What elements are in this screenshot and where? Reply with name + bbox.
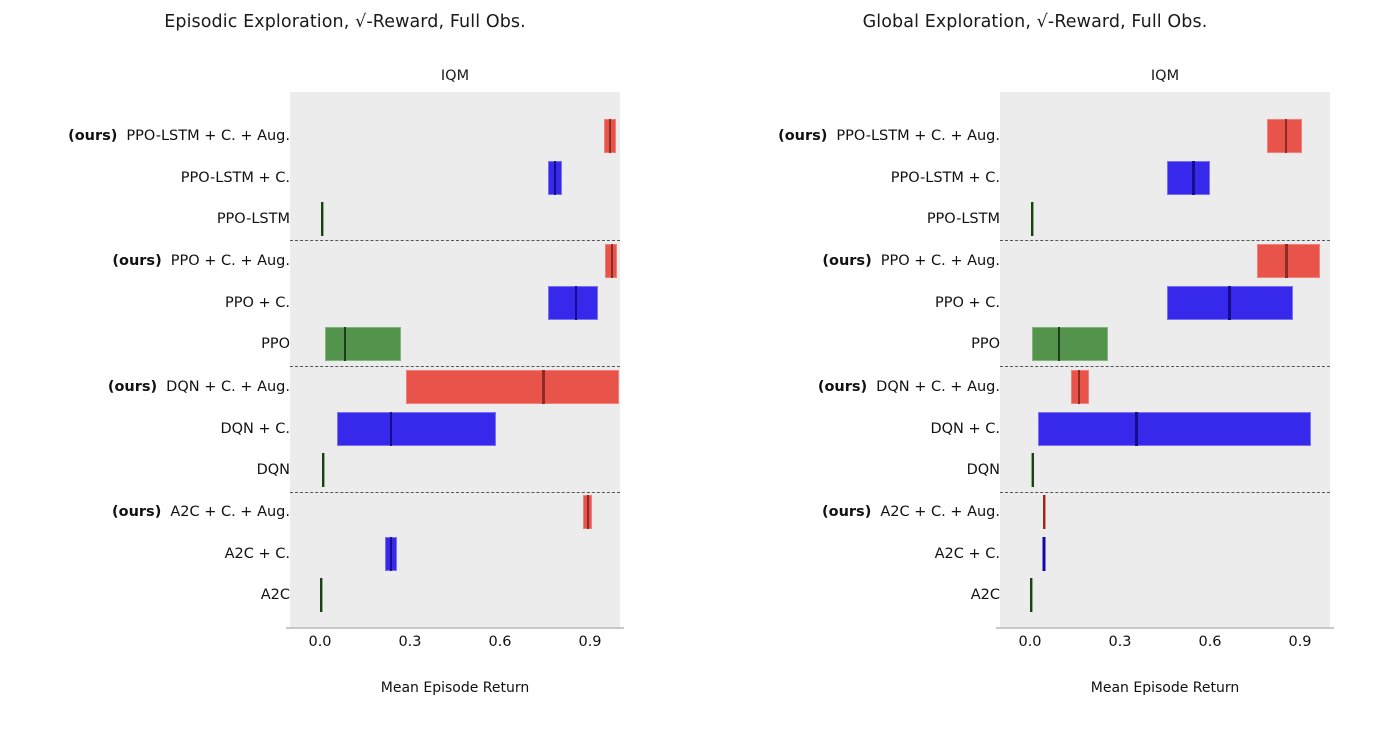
y-axis-label-a2c: A2C bbox=[971, 585, 1000, 605]
ours-tag: (ours) bbox=[112, 253, 161, 269]
ours-tag: (ours) bbox=[778, 128, 827, 144]
y-axis-label-ppo-c: PPO + C. bbox=[935, 293, 1000, 313]
group-separator-3 bbox=[1000, 492, 1330, 493]
x-tick-label: 0.0 bbox=[1000, 634, 1060, 650]
panel-global-exploration: Global Exploration, √-Reward, Full Obs. … bbox=[690, 0, 1380, 731]
confidence-interval-bar bbox=[1032, 327, 1109, 361]
algorithm-name: DQN bbox=[257, 462, 290, 478]
y-axis-label-a2c-c: A2C + C. bbox=[935, 544, 1000, 564]
iqm-point-estimate bbox=[1031, 202, 1033, 236]
y-axis-label-ppo-lstm: PPO-LSTM bbox=[217, 209, 290, 229]
ours-tag: (ours) bbox=[68, 128, 117, 144]
iqm-point-estimate bbox=[1032, 453, 1034, 487]
x-tick-label: 0.9 bbox=[1270, 634, 1330, 650]
iqm-point-estimate bbox=[390, 537, 392, 571]
algorithm-name: A2C + C. bbox=[225, 546, 290, 562]
x-axis-line bbox=[286, 627, 624, 629]
x-tick-label: 0.9 bbox=[560, 634, 620, 650]
group-separator-1 bbox=[290, 240, 620, 241]
confidence-interval-bar bbox=[548, 286, 598, 320]
iqm-point-estimate bbox=[1030, 578, 1032, 612]
algorithm-name: A2C + C. + Aug. bbox=[170, 504, 290, 520]
iqm-point-estimate bbox=[322, 453, 324, 487]
x-axis-title: Mean Episode Return bbox=[290, 680, 620, 696]
iqm-point-estimate bbox=[1285, 119, 1287, 153]
algorithm-name: DQN + C. bbox=[930, 421, 1000, 437]
algorithm-name: PPO-LSTM + C. + Aug. bbox=[836, 128, 1000, 144]
algorithm-name: A2C bbox=[971, 587, 1000, 603]
group-separator-3 bbox=[290, 492, 620, 493]
ours-tag: (ours) bbox=[818, 379, 867, 395]
iqm-point-estimate bbox=[554, 161, 556, 195]
subplot-title: IQM bbox=[1000, 68, 1330, 84]
ours-tag: (ours) bbox=[822, 253, 871, 269]
algorithm-name: DQN bbox=[967, 462, 1000, 478]
confidence-interval-bar bbox=[1257, 244, 1320, 278]
algorithm-name: DQN + C. + Aug. bbox=[166, 379, 290, 395]
y-axis-label-ppo: PPO bbox=[261, 334, 290, 354]
algorithm-name: PPO + C. + Aug. bbox=[171, 253, 290, 269]
group-separator-2 bbox=[290, 366, 620, 367]
iqm-point-estimate bbox=[1192, 161, 1194, 195]
x-tick-label: 0.3 bbox=[1090, 634, 1150, 650]
algorithm-name: A2C bbox=[261, 587, 290, 603]
y-axis-label-dqn-c: DQN + C. bbox=[220, 419, 290, 439]
iqm-point-estimate bbox=[1058, 327, 1060, 361]
x-tick-label: 0.3 bbox=[380, 634, 440, 650]
iqm-point-estimate bbox=[1285, 244, 1287, 278]
iqm-point-estimate bbox=[320, 578, 322, 612]
iqm-point-estimate bbox=[609, 119, 611, 153]
confidence-interval-bar bbox=[337, 412, 497, 446]
algorithm-name: PPO-LSTM + C. + Aug. bbox=[126, 128, 290, 144]
y-axis-label-ppo-lstm-c: PPO-LSTM + C. bbox=[181, 168, 290, 188]
y-axis-label-a2c-c: A2C + C. bbox=[225, 544, 290, 564]
algorithm-name: PPO bbox=[261, 336, 290, 352]
iqm-point-estimate bbox=[1135, 412, 1137, 446]
algorithm-name: PPO bbox=[971, 336, 1000, 352]
algorithm-name: DQN + C. + Aug. bbox=[876, 379, 1000, 395]
y-axis-label-ppo: PPO bbox=[971, 334, 1000, 354]
y-axis-label-dqn: DQN bbox=[257, 460, 290, 480]
x-axis-title: Mean Episode Return bbox=[1000, 680, 1330, 696]
x-tick-label: 0.0 bbox=[290, 634, 350, 650]
y-axis-label-dqn-c-aug: (ours)DQN + C. + Aug. bbox=[108, 377, 290, 397]
iqm-point-estimate bbox=[390, 412, 392, 446]
algorithm-name: PPO + C. + Aug. bbox=[881, 253, 1000, 269]
algorithm-name: PPO + C. bbox=[935, 295, 1000, 311]
iqm-point-estimate bbox=[321, 202, 323, 236]
iqm-point-estimate bbox=[344, 327, 346, 361]
x-tick-label: 0.6 bbox=[470, 634, 530, 650]
group-separator-1 bbox=[1000, 240, 1330, 241]
y-axis-label-dqn-c: DQN + C. bbox=[930, 419, 1000, 439]
confidence-interval-bar bbox=[406, 370, 619, 404]
x-axis-line bbox=[996, 627, 1334, 629]
panel-episodic-exploration: Episodic Exploration, √-Reward, Full Obs… bbox=[0, 0, 690, 731]
y-axis-label-ppo-c: PPO + C. bbox=[225, 293, 290, 313]
subplot-title: IQM bbox=[290, 68, 620, 84]
x-tick-label: 0.6 bbox=[1180, 634, 1240, 650]
y-axis-label-ppo-c-aug: (ours)PPO + C. + Aug. bbox=[822, 251, 1000, 271]
y-axis-label-ppo-lstm-c-aug: (ours)PPO-LSTM + C. + Aug. bbox=[68, 126, 290, 146]
iqm-point-estimate bbox=[611, 244, 613, 278]
algorithm-name: PPO-LSTM + C. bbox=[891, 170, 1000, 186]
panel-title: Global Exploration, √-Reward, Full Obs. bbox=[690, 12, 1380, 32]
confidence-interval-bar bbox=[1038, 412, 1311, 446]
confidence-interval-bar bbox=[325, 327, 401, 361]
ours-tag: (ours) bbox=[112, 504, 161, 520]
algorithm-name: DQN + C. bbox=[220, 421, 290, 437]
group-separator-2 bbox=[1000, 366, 1330, 367]
y-axis-label-ppo-c-aug: (ours)PPO + C. + Aug. bbox=[112, 251, 290, 271]
panel-title: Episodic Exploration, √-Reward, Full Obs… bbox=[0, 12, 690, 32]
y-axis-label-dqn-c-aug: (ours)DQN + C. + Aug. bbox=[818, 377, 1000, 397]
algorithm-name: A2C + C. bbox=[935, 546, 1000, 562]
ours-tag: (ours) bbox=[108, 379, 157, 395]
iqm-point-estimate bbox=[1228, 286, 1230, 320]
y-axis-label-ppo-lstm-c-aug: (ours)PPO-LSTM + C. + Aug. bbox=[778, 126, 1000, 146]
y-axis-label-a2c: A2C bbox=[261, 585, 290, 605]
iqm-point-estimate bbox=[1078, 370, 1080, 404]
algorithm-name: PPO-LSTM bbox=[217, 211, 290, 227]
y-axis-label-ppo-lstm-c: PPO-LSTM + C. bbox=[891, 168, 1000, 188]
iqm-point-estimate bbox=[587, 495, 589, 529]
y-axis-label-a2c-c-aug: (ours)A2C + C. + Aug. bbox=[822, 502, 1000, 522]
y-axis-label-a2c-c-aug: (ours)A2C + C. + Aug. bbox=[112, 502, 290, 522]
iqm-point-estimate bbox=[1043, 495, 1045, 529]
algorithm-name: PPO-LSTM + C. bbox=[181, 170, 290, 186]
algorithm-name: PPO-LSTM bbox=[927, 211, 1000, 227]
algorithm-name: A2C + C. + Aug. bbox=[880, 504, 1000, 520]
iqm-point-estimate bbox=[542, 370, 544, 404]
confidence-interval-bar bbox=[1167, 161, 1211, 195]
y-axis-label-ppo-lstm: PPO-LSTM bbox=[927, 209, 1000, 229]
iqm-point-estimate bbox=[1043, 537, 1045, 571]
iqm-point-estimate bbox=[575, 286, 577, 320]
ours-tag: (ours) bbox=[822, 504, 871, 520]
y-axis-label-dqn: DQN bbox=[967, 460, 1000, 480]
algorithm-name: PPO + C. bbox=[225, 295, 290, 311]
